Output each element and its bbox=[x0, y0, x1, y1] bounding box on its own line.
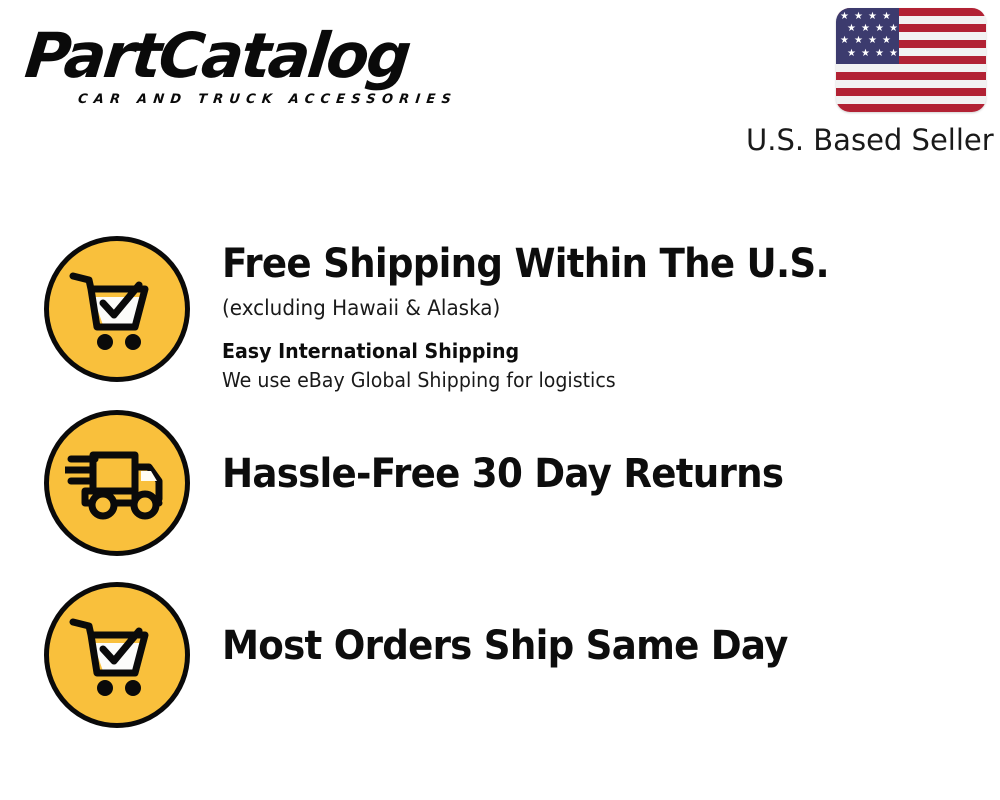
feature-text-block: Most Orders Ship Same Day bbox=[222, 582, 1000, 670]
delivery-truck-icon bbox=[44, 410, 190, 556]
flag-stripe bbox=[836, 80, 986, 88]
feature-title: Free Shipping Within The U.S. bbox=[222, 240, 946, 288]
flag-canton: ★ ★ ★ ★ ★ ★ ★ ★ ★ ★ ★ ★ ★ ★ ★ ★ bbox=[836, 8, 899, 64]
feature-row: Free Shipping Within The U.S. (excluding… bbox=[0, 236, 1000, 394]
feature-title: Hassle-Free 30 Day Returns bbox=[222, 450, 946, 498]
shopping-cart-check-icon bbox=[44, 236, 190, 382]
feature-row: Most Orders Ship Same Day bbox=[0, 582, 1000, 728]
brand-tagline: CAR AND TRUCK ACCESSORIES bbox=[77, 92, 458, 107]
shopping-cart-check-icon bbox=[44, 582, 190, 728]
feature-subtext: We use eBay Global Shipping for logistic… bbox=[222, 366, 961, 394]
us-based-seller-badge: ★ ★ ★ ★ ★ ★ ★ ★ ★ ★ ★ ★ ★ ★ ★ ★ U.S. Bas… bbox=[746, 8, 986, 157]
us-based-seller-label: U.S. Based Seller bbox=[746, 123, 984, 157]
brand-logo[interactable]: PartCatalog CAR AND TRUCK ACCESSORIES bbox=[22, 22, 492, 117]
feature-text-block: Hassle-Free 30 Day Returns bbox=[222, 410, 1000, 498]
feature-title: Most Orders Ship Same Day bbox=[222, 622, 946, 670]
feature-note: (excluding Hawaii & Alaska) bbox=[222, 294, 961, 322]
page-header: PartCatalog CAR AND TRUCK ACCESSORIES ★ … bbox=[0, 0, 1000, 175]
flag-stripe bbox=[836, 64, 986, 72]
feature-subheading: Easy International Shipping bbox=[222, 338, 961, 364]
flag-stripe bbox=[836, 88, 986, 96]
us-flag-icon: ★ ★ ★ ★ ★ ★ ★ ★ ★ ★ ★ ★ ★ ★ ★ ★ bbox=[836, 8, 986, 112]
brand-wordmark: PartCatalog bbox=[22, 22, 499, 90]
feature-row: Hassle-Free 30 Day Returns bbox=[0, 410, 1000, 556]
flag-stripe bbox=[836, 96, 986, 104]
feature-text-block: Free Shipping Within The U.S. (excluding… bbox=[222, 236, 1000, 394]
flag-stripe bbox=[836, 104, 986, 112]
flag-stripe bbox=[836, 72, 986, 80]
